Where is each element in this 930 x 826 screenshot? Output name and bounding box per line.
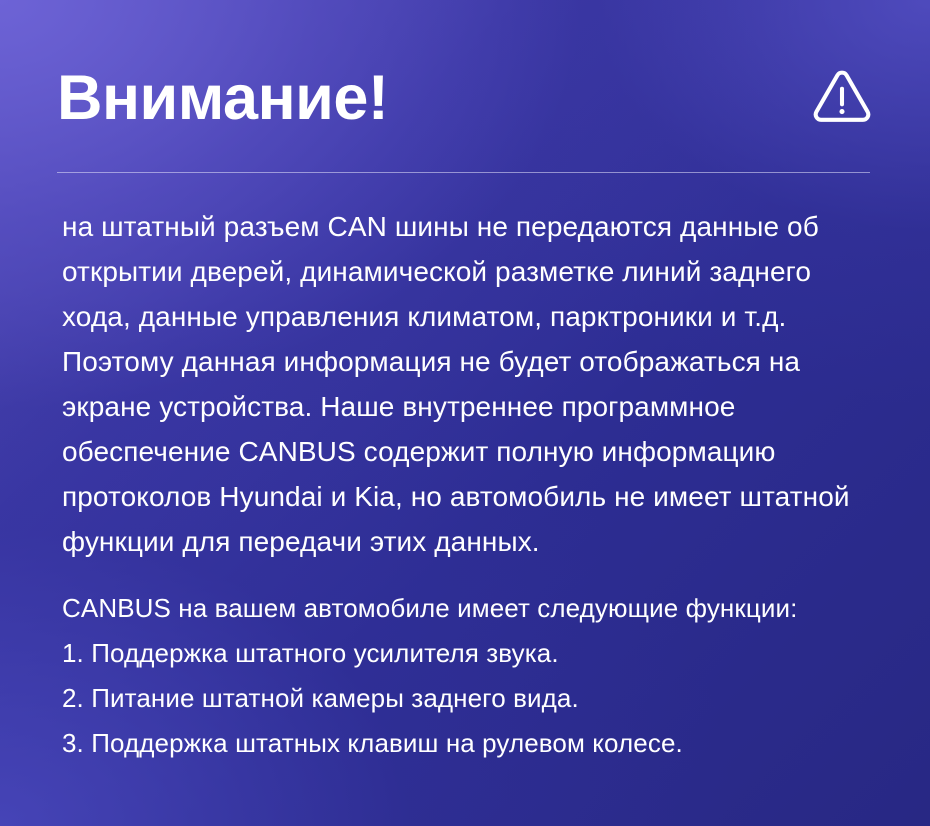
features-list: 1. Поддержка штатного усилителя звука. 2… — [62, 631, 878, 766]
body-text: на штатный разъем CAN шины не передаются… — [62, 204, 878, 564]
list-item: 1. Поддержка штатного усилителя звука. — [62, 631, 878, 676]
list-item: 3. Поддержка штатных клавиш на рулевом к… — [62, 721, 878, 766]
features-lead: CANBUS на вашем автомобиле имеет следующ… — [62, 586, 878, 631]
body-paragraph: на штатный разъем CAN шины не передаются… — [62, 204, 878, 564]
header-divider — [57, 172, 870, 173]
warning-poster: Внимание! на штатный разъем CAN шины не … — [0, 0, 930, 826]
warning-triangle-icon — [811, 67, 873, 129]
poster-header: Внимание! — [57, 52, 875, 144]
page-title: Внимание! — [57, 60, 388, 136]
list-item: 2. Питание штатной камеры заднего вида. — [62, 676, 878, 721]
features-section: CANBUS на вашем автомобиле имеет следующ… — [62, 586, 878, 766]
